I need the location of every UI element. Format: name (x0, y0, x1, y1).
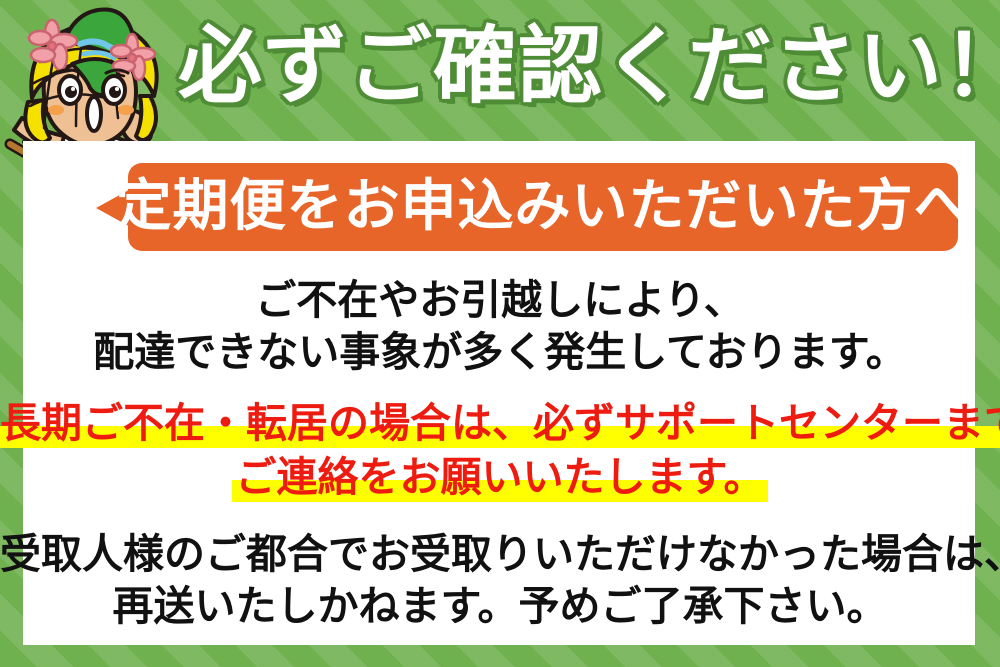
warning-line-2: ご連絡をお願いいたします。 (0, 457, 1000, 498)
subscription-banner: 定期便をお申込みいただいた方へ (128, 163, 958, 251)
warning-line-1: 長期ご不在・転居の場合は、必ずサポートセンターまで (0, 403, 1000, 444)
footer-line-1: 受取人様のご都合でお受取りいただけなかった場合は、 (0, 534, 1000, 575)
body-line-1: ご不在やお引越しにより、 (0, 280, 1000, 321)
warning-line-2-text: ご連絡をお願いいたします。 (236, 457, 765, 498)
poster-root: 基 (0, 0, 1000, 667)
body-line-2: 配達できない事象が多く発生しております。 (0, 332, 1000, 373)
subscription-banner-label: 定期便をお申込みいただいた方へ (116, 179, 971, 235)
warning-line-1-text: 長期ご不在・転居の場合は、必ずサポートセンターまで (0, 403, 1000, 444)
footer-line-2: 再送いたしかねます。予めご了承下さい。 (0, 586, 1000, 627)
page-title: 必ずご確認ください！ (178, 12, 978, 120)
